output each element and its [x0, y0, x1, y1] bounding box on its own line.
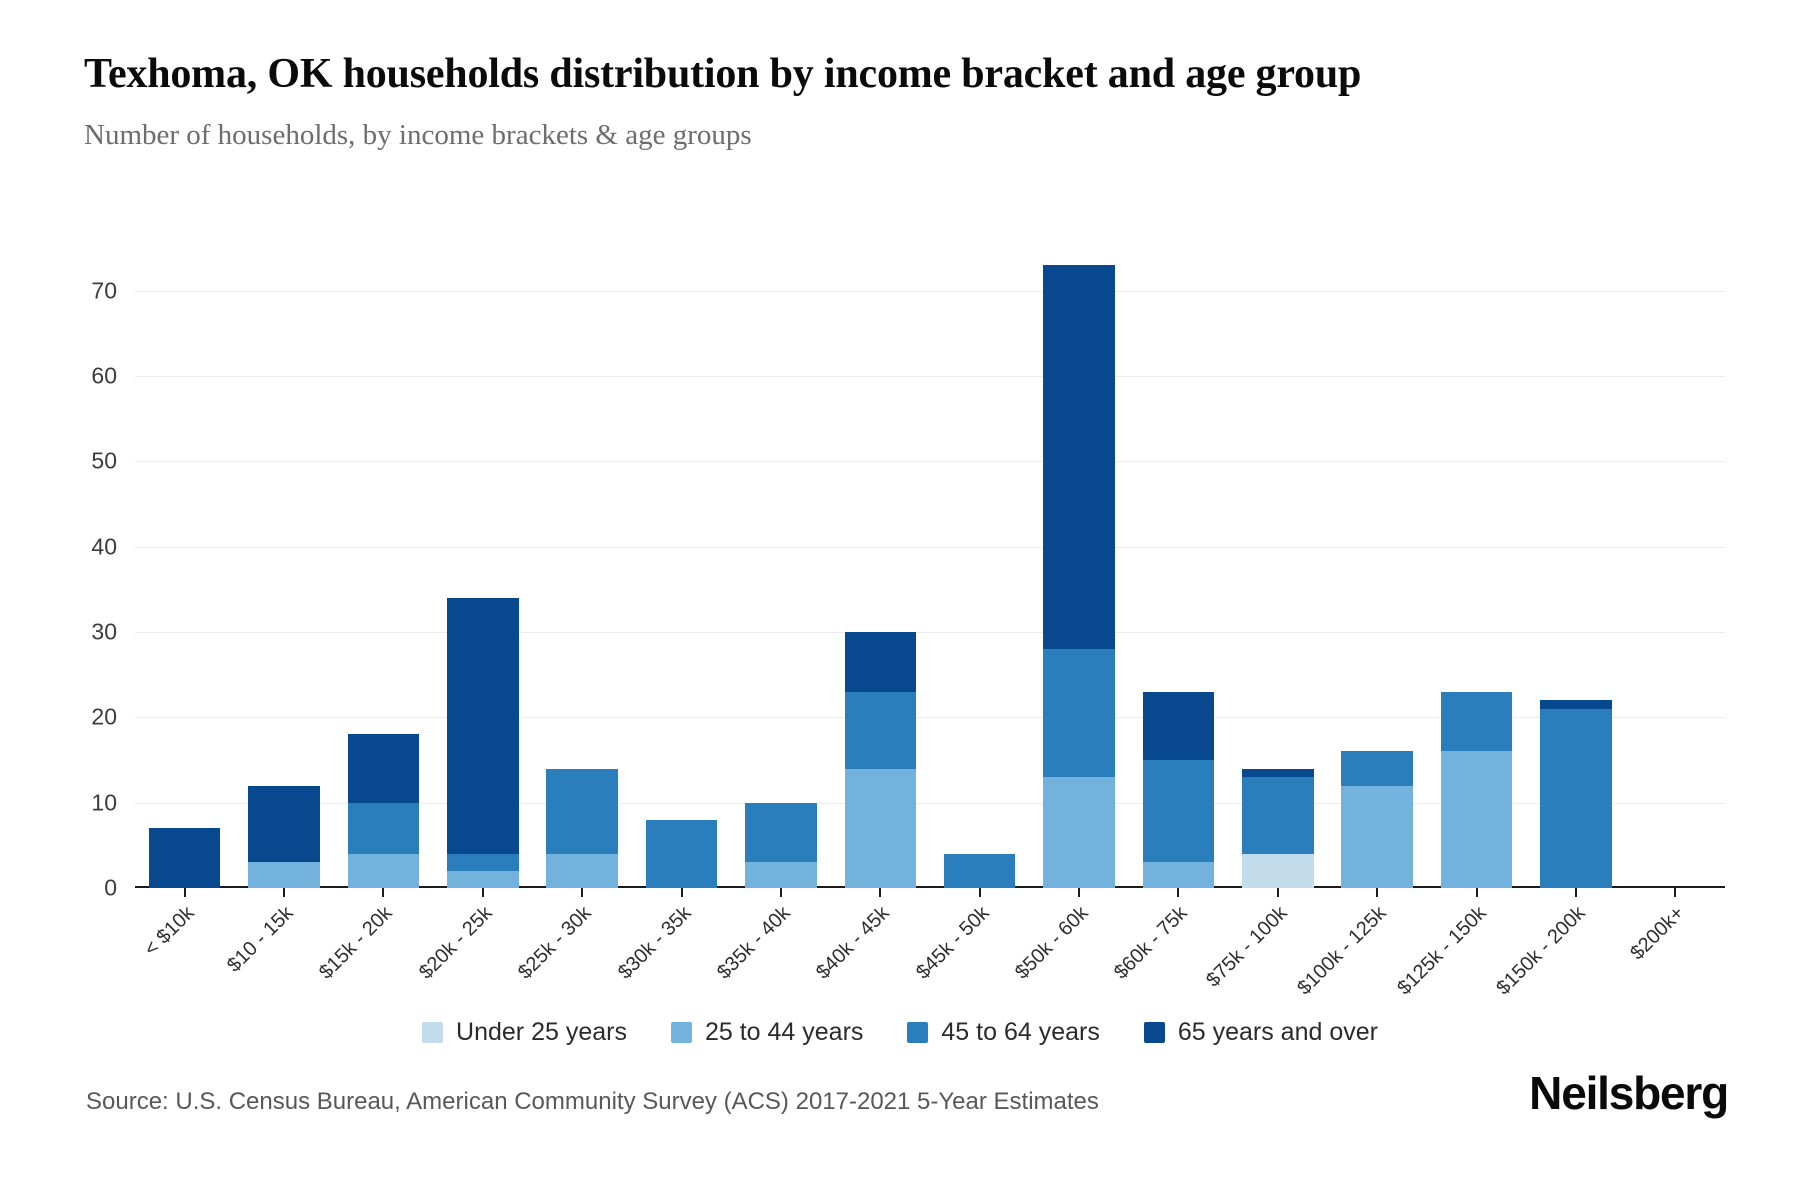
bar-group[interactable] — [1626, 248, 1725, 888]
bar-segment[interactable] — [546, 769, 618, 854]
bar-segment[interactable] — [348, 803, 420, 854]
x-label-slot: $25k - 30k — [533, 898, 632, 1018]
bar-stack[interactable] — [447, 598, 519, 888]
x-tick-mark — [1277, 888, 1279, 897]
x-label-slot: $100k - 125k — [1328, 898, 1427, 1018]
y-tick-label: 20 — [91, 704, 117, 731]
x-tick-mark — [1177, 888, 1179, 897]
bar-stack[interactable] — [1441, 692, 1513, 888]
legend-label: 65 years and over — [1178, 1018, 1378, 1047]
bar-stack[interactable] — [1143, 692, 1215, 888]
x-axis-tick-label-text: < $10k — [140, 902, 199, 961]
legend-swatch-icon — [907, 1022, 928, 1043]
bar-stack[interactable] — [248, 786, 320, 888]
x-tick-mark — [1674, 888, 1676, 897]
x-label-slot: $35k - 40k — [731, 898, 830, 1018]
bar-segment[interactable] — [1441, 751, 1513, 888]
bar-segment[interactable] — [1143, 692, 1215, 760]
bar-group[interactable] — [533, 248, 632, 888]
legend-swatch-icon — [1144, 1022, 1165, 1043]
bar-segment[interactable] — [248, 786, 320, 863]
x-label-slot: $10 - 15k — [234, 898, 333, 1018]
bar-segment[interactable] — [447, 598, 519, 854]
legend-label: 45 to 64 years — [941, 1018, 1099, 1047]
bars-container — [135, 248, 1725, 888]
x-tick-mark — [283, 888, 285, 897]
bar-segment[interactable] — [1043, 265, 1115, 649]
bar-segment[interactable] — [845, 632, 917, 692]
bar-segment[interactable] — [1242, 777, 1314, 854]
x-label-slot: < $10k — [135, 898, 234, 1018]
x-tick-mark — [681, 888, 683, 897]
bar-stack[interactable] — [1540, 700, 1612, 888]
bar-group[interactable] — [1029, 248, 1128, 888]
bar-segment[interactable] — [1540, 709, 1612, 888]
bar-group[interactable] — [1328, 248, 1427, 888]
y-tick-label: 0 — [104, 875, 117, 902]
bar-stack[interactable] — [348, 734, 420, 888]
bar-group[interactable] — [731, 248, 830, 888]
bar-stack[interactable] — [546, 769, 618, 888]
bar-group[interactable] — [135, 248, 234, 888]
bar-group[interactable] — [930, 248, 1029, 888]
bar-segment[interactable] — [845, 769, 917, 888]
bar-group[interactable] — [1129, 248, 1228, 888]
legend-swatch-icon — [671, 1022, 692, 1043]
bar-group[interactable] — [1427, 248, 1526, 888]
bar-group[interactable] — [1228, 248, 1327, 888]
x-tick-mark — [581, 888, 583, 897]
source-note: Source: U.S. Census Bureau, American Com… — [86, 1088, 1099, 1116]
page-title: Texhoma, OK households distribution by i… — [84, 48, 1624, 101]
y-tick-label: 50 — [91, 448, 117, 475]
chart-subtitle: Number of households, by income brackets… — [84, 119, 1644, 152]
x-label-slot: $20k - 25k — [433, 898, 532, 1018]
bar-group[interactable] — [334, 248, 433, 888]
x-label-slot: $45k - 50k — [930, 898, 1029, 1018]
neilsberg-logo: Neilsberg — [1529, 1066, 1728, 1120]
x-label-slot: $30k - 35k — [632, 898, 731, 1018]
bar-segment[interactable] — [1441, 692, 1513, 752]
x-tick-mark — [780, 888, 782, 897]
legend-swatch-icon — [422, 1022, 443, 1043]
x-axis-tick-label-text: $200k+ — [1627, 902, 1690, 965]
x-axis-labels: < $10k$10 - 15k$15k - 20k$20k - 25k$25k … — [135, 898, 1725, 1018]
chart-plot-area: 010203040506070 — [0, 248, 1800, 888]
bar-stack[interactable] — [1043, 265, 1115, 888]
legend-label: 25 to 44 years — [705, 1018, 863, 1047]
x-label-slot: $40k - 45k — [831, 898, 930, 1018]
legend-label: Under 25 years — [456, 1018, 627, 1047]
bar-stack[interactable] — [1341, 751, 1413, 888]
x-label-slot: $75k - 100k — [1228, 898, 1327, 1018]
x-tick-mark — [184, 888, 186, 897]
bar-group[interactable] — [433, 248, 532, 888]
chart-footer: Source: U.S. Census Bureau, American Com… — [0, 1080, 1800, 1150]
y-tick-label: 70 — [91, 277, 117, 304]
bar-segment[interactable] — [1043, 777, 1115, 888]
bar-group[interactable] — [234, 248, 333, 888]
x-tick-mark — [382, 888, 384, 897]
x-label-slot: $200k+ — [1626, 898, 1725, 1018]
x-label-slot: $60k - 75k — [1129, 898, 1228, 1018]
legend-item[interactable]: 45 to 64 years — [907, 1018, 1099, 1047]
x-tick-mark — [1376, 888, 1378, 897]
x-tick-mark — [1078, 888, 1080, 897]
x-tick-mark — [482, 888, 484, 897]
x-label-slot: $125k - 150k — [1427, 898, 1526, 1018]
bar-segment[interactable] — [1043, 649, 1115, 777]
bar-segment[interactable] — [1341, 751, 1413, 785]
legend-item[interactable]: Under 25 years — [422, 1018, 627, 1047]
y-tick-label: 30 — [91, 619, 117, 646]
y-tick-label: 10 — [91, 789, 117, 816]
chart-header: Texhoma, OK households distribution by i… — [84, 48, 1644, 152]
bar-segment[interactable] — [1242, 769, 1314, 778]
chart-legend: Under 25 years25 to 44 years45 to 64 yea… — [0, 1018, 1800, 1047]
x-label-slot: $15k - 20k — [334, 898, 433, 1018]
bar-group[interactable] — [632, 248, 731, 888]
bar-segment[interactable] — [348, 734, 420, 802]
bar-group[interactable] — [831, 248, 930, 888]
bar-group[interactable] — [1526, 248, 1625, 888]
x-tick-mark — [1476, 888, 1478, 897]
x-label-slot: $50k - 60k — [1029, 898, 1128, 1018]
y-tick-label: 40 — [91, 533, 117, 560]
x-axis-tick-label-text: $10 - 15k — [223, 902, 298, 977]
y-axis: 010203040506070 — [0, 248, 135, 888]
bar-segment[interactable] — [845, 692, 917, 769]
legend-item[interactable]: 65 years and over — [1144, 1018, 1378, 1047]
x-tick-mark — [979, 888, 981, 897]
bar-segment[interactable] — [1540, 700, 1612, 709]
legend-item[interactable]: 25 to 44 years — [671, 1018, 863, 1047]
x-tick-mark — [879, 888, 881, 897]
y-tick-label: 60 — [91, 363, 117, 390]
x-label-slot: $150k - 200k — [1526, 898, 1625, 1018]
x-tick-mark — [1575, 888, 1577, 897]
bar-stack[interactable] — [1242, 769, 1314, 888]
